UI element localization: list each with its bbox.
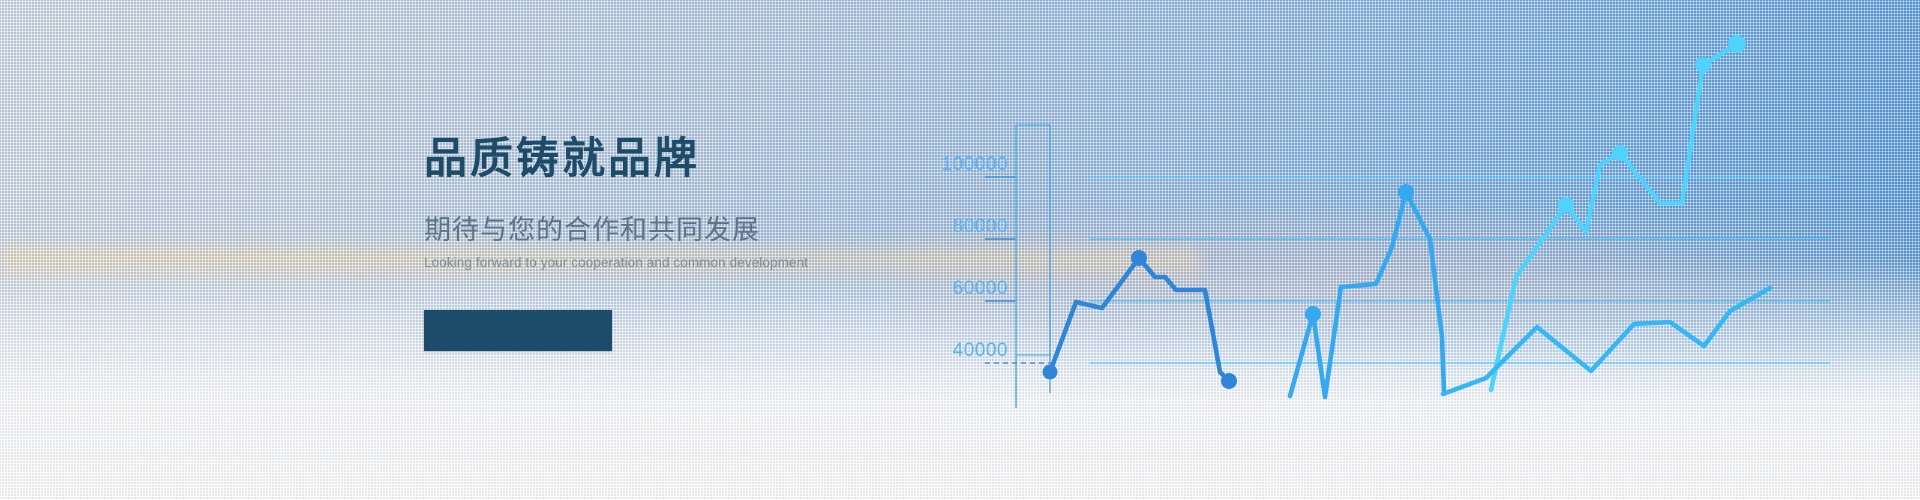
data-point-marker <box>1728 35 1746 53</box>
ytick-label-40000: 40000 <box>953 340 1008 361</box>
banner-copy: 品质铸就品牌 期待与您的合作和共同发展 Looking forward to y… <box>424 138 894 270</box>
banner-subhead-en: Looking forward to your cooperation and … <box>424 256 894 270</box>
data-point-marker <box>1043 365 1058 380</box>
banner-cta-button[interactable] <box>424 310 612 351</box>
data-point-marker <box>1305 306 1321 322</box>
series-3-markers <box>1558 35 1746 213</box>
banner-root: 100000 80000 60000 40000 <box>0 0 1920 500</box>
ytick-label-100000: 100000 <box>942 154 1008 175</box>
data-point-marker <box>1131 250 1147 266</box>
banner-headline: 品质铸就品牌 <box>424 138 894 181</box>
banner-subhead: 期待与您的合作和共同发展 <box>424 217 894 244</box>
series-line-2 <box>1290 192 1444 397</box>
axis-highlight-box <box>1016 125 1050 355</box>
ytick-label-80000: 80000 <box>953 216 1008 237</box>
ytick-label-60000: 60000 <box>953 278 1008 299</box>
data-point-marker <box>1612 145 1628 161</box>
data-point-marker <box>1695 57 1711 73</box>
data-point-marker <box>1558 197 1574 213</box>
line-chart: 100000 80000 60000 40000 <box>0 0 1920 500</box>
data-point-marker <box>1398 184 1414 200</box>
data-point-marker <box>1221 373 1237 389</box>
gridlines <box>1090 177 1830 363</box>
